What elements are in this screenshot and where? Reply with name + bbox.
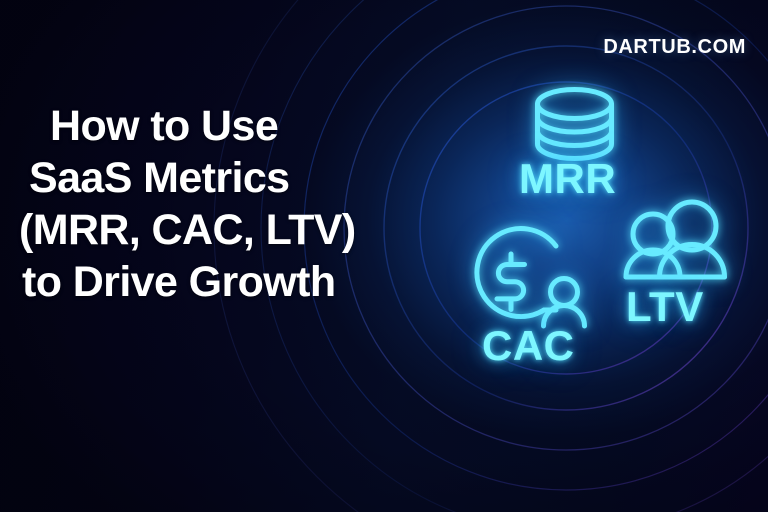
database-stack-icon	[538, 90, 612, 159]
dollar-circle-icon	[477, 229, 556, 317]
banner-canvas: DARTUB.COM How to Use SaaS Metrics (MRR,…	[0, 0, 768, 512]
title-line-4: to Drive Growth	[18, 256, 438, 308]
page-title: How to Use SaaS Metrics (MRR, CAC, LTV) …	[18, 100, 438, 308]
metric-label-ltv: LTV	[626, 283, 704, 331]
title-line-3: (MRR, CAC, LTV)	[18, 204, 438, 256]
title-line-2: SaaS Metrics	[18, 152, 438, 204]
two-people-icon	[626, 202, 725, 277]
metric-label-mrr: MRR	[519, 155, 616, 203]
person-icon	[544, 279, 585, 327]
metric-label-cac: CAC	[482, 322, 575, 370]
title-line-1: How to Use	[18, 100, 438, 152]
site-logo[interactable]: DARTUB.COM	[603, 36, 746, 59]
